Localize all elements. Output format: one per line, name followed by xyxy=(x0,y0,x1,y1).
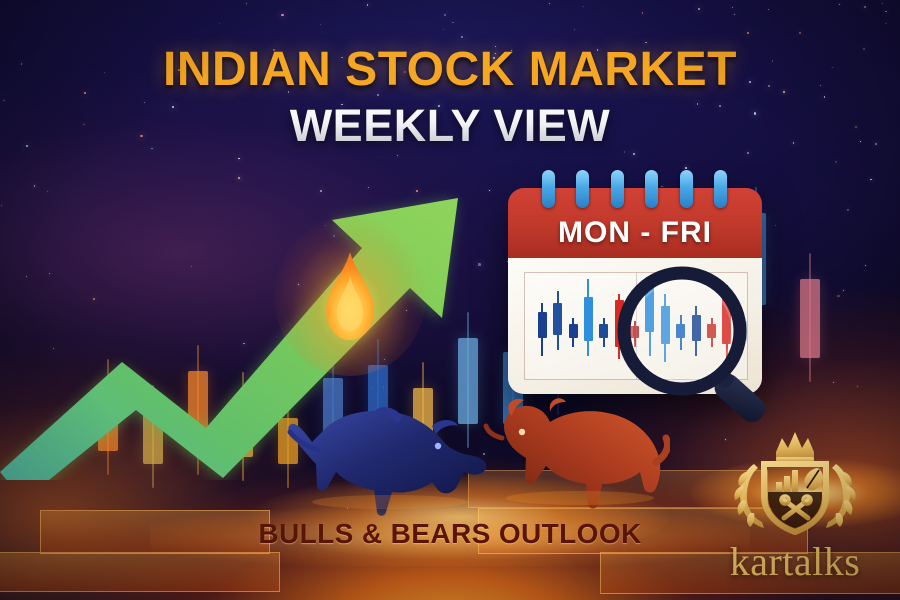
calendar-candlestick-plot xyxy=(524,272,748,380)
candlestick xyxy=(584,273,593,377)
page-title-primary: INDIAN STOCK MARKET xyxy=(0,42,900,97)
candlestick xyxy=(599,273,608,377)
calendar-header-label: MON - FRI xyxy=(558,216,712,250)
bear-icon xyxy=(470,392,670,514)
crown-icon xyxy=(776,432,814,462)
leaf-icon xyxy=(804,468,823,490)
candlestick xyxy=(569,273,578,377)
diya-flame-icon xyxy=(318,250,382,342)
candlestick xyxy=(661,273,670,377)
calendar-body xyxy=(508,258,762,394)
page-title-secondary: WEEKLY VIEW xyxy=(0,100,900,152)
brand-logo[interactable]: kartalks xyxy=(700,430,890,590)
calendar-ring xyxy=(576,170,589,208)
shield-icon xyxy=(720,430,870,542)
candlestick xyxy=(553,273,562,377)
calendar-ring xyxy=(611,170,624,208)
bar-chart-icon xyxy=(776,470,798,492)
candlestick xyxy=(722,273,731,377)
calendar-ring xyxy=(645,170,658,208)
candlestick xyxy=(692,273,701,377)
candlestick xyxy=(676,273,685,377)
bull-icon xyxy=(282,398,497,518)
candlestick xyxy=(615,273,624,377)
weekly-calendar-card: MON - FRI xyxy=(508,188,762,394)
candlestick xyxy=(630,273,639,377)
calendar-ring xyxy=(680,170,693,208)
calendar-ring xyxy=(714,170,727,208)
brand-wordmark: kartalks xyxy=(700,538,890,585)
calendar-ring xyxy=(542,170,555,208)
poster-canvas: MON - FRI xyxy=(0,0,900,600)
candlestick xyxy=(707,273,716,377)
candlestick xyxy=(645,273,654,377)
plot-midline xyxy=(636,273,637,379)
candlestick xyxy=(738,273,747,377)
candlestick xyxy=(538,273,547,377)
calendar-binding-rings xyxy=(508,170,762,210)
